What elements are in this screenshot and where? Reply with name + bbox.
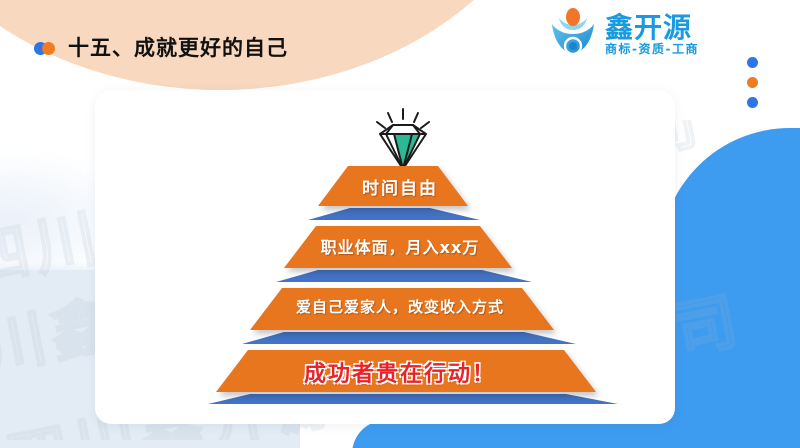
side-dot-icon (747, 97, 758, 108)
side-dot-icon (747, 77, 758, 88)
blue-bottom-curve (352, 420, 800, 448)
logo-tagline: 商标-资质-工商 (605, 43, 699, 55)
brand-logo: 鑫开源 商标-资质-工商 (548, 8, 699, 60)
page-title-text: 十五、成就更好的自己 (68, 38, 288, 59)
side-dot-icon (747, 57, 758, 68)
side-dot-group (747, 57, 758, 108)
pyramid-diagram: 时间自由 职业体面，月入xx万 爱自己爱家人，改变收入方式 成功者贵在行动！ (180, 160, 620, 405)
blue-right-shape (660, 128, 800, 448)
logo-company-name: 鑫开源 (605, 14, 699, 42)
page-title: 十五、成就更好的自己 (34, 38, 288, 59)
pyramid-level[interactable]: 成功者贵在行动！ (180, 160, 620, 405)
company-logo-mark-icon (548, 8, 598, 60)
dual-dot-marker-icon (34, 42, 56, 55)
slide-canvas: 四川鑫开源科技有限公司 四川鑫开源科技有限公司 四川鑫开源科技有限公司 十五、成… (0, 0, 800, 448)
